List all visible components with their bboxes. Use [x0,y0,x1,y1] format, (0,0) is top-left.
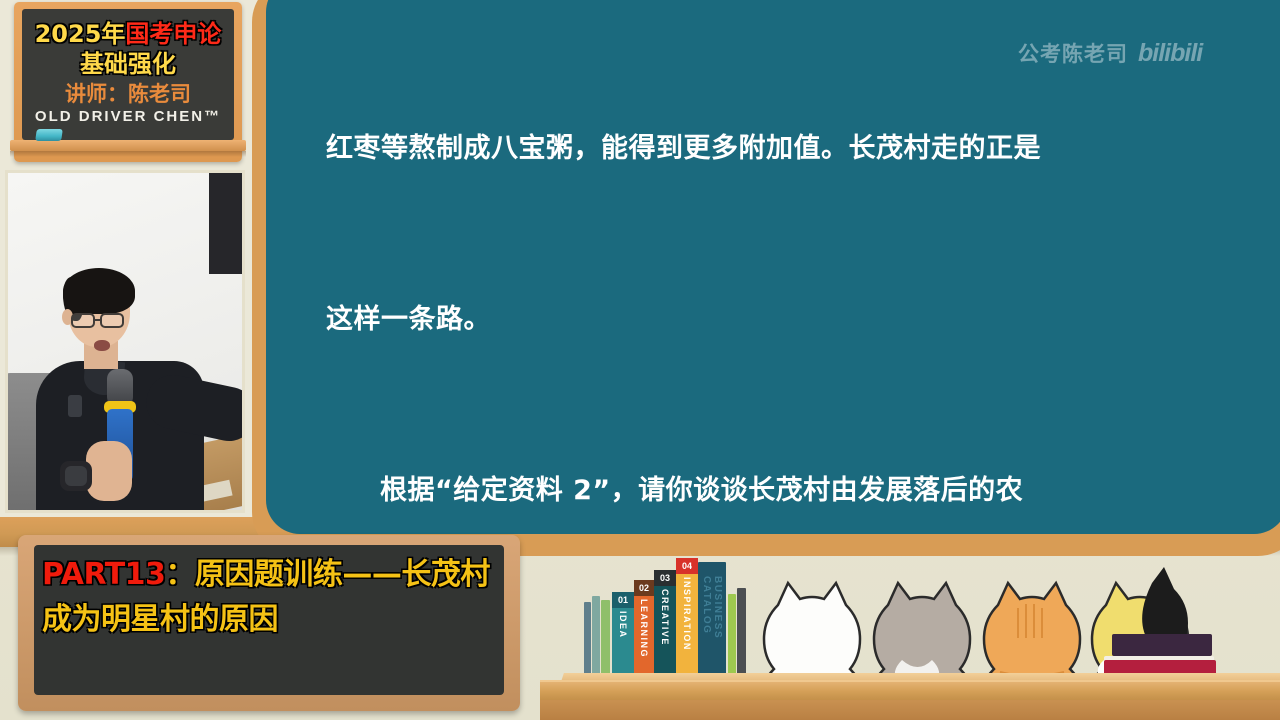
video-player-frame: 红枣等熬制成八宝粥，能得到更多附加值。长茂村走的正是 这样一条路。 根据“给定资… [0,0,1280,720]
thin-book-1 [584,602,591,680]
main-slide-board: 红枣等熬制成八宝粥，能得到更多附加值。长茂村走的正是 这样一条路。 根据“给定资… [266,0,1280,534]
glasses-left-lens-icon [71,313,95,328]
book-04-label: INSPIRATION [682,577,692,651]
wristwatch-face [65,466,87,486]
book-01-label: IDEA [618,611,628,639]
thin-book-3 [601,600,610,680]
background-dark-panel [209,173,242,274]
slide-line-2: 这样一条路。 [326,291,1226,348]
thin-book-5 [737,588,746,680]
instructor-name: 讲师：陈老司 [22,78,234,108]
glasses-right-lens-icon [100,313,124,328]
title-board-ledge-shadow [10,151,246,157]
book-02-label: LEARNING [639,599,649,658]
part-colon: ： [165,557,195,592]
book-03-number: 03 [660,573,670,583]
lower-shelf [540,680,1280,702]
book-spine-04-inspiration: 04 INSPIRATION [676,558,698,680]
bookshelf-books: 01 IDEA 02 LEARNING 03 CREATIVE 04 INSPI… [582,568,782,680]
part-label: PART13 [42,557,165,592]
chalk-eraser-icon [35,129,63,141]
glasses-bridge-icon [95,319,101,321]
book-spine-02-learning: 02 LEARNING [634,580,654,680]
part-topic-line-3: 因 [249,602,279,637]
slide-line-1: 红枣等熬制成八宝粥，能得到更多附加值。长茂村走的正是 [326,120,1226,177]
slide-text-body: 红枣等熬制成八宝粥，能得到更多附加值。长茂村走的正是 这样一条路。 根据“给定资… [326,12,1226,534]
webcam-video-feed [8,173,242,510]
slide-line-3: 根据“给定资料 2”，请你谈谈长茂村由发展落后的农 [326,462,1226,519]
book-01-number: 01 [618,595,628,605]
thin-book-2 [592,596,600,680]
title-board-ledge [10,140,246,151]
lower-shelf-edge [540,700,1280,720]
book-02-number: 02 [639,583,649,593]
instructor-handle: OLD DRIVER CHEN™ [22,108,234,125]
part-topic-line-1: 原因题训练— [195,557,372,592]
thin-book-4 [728,594,736,680]
book-spine-01-idea: 01 IDEA [612,592,634,680]
book-spine-business: BUSINESS CATALOG [698,562,726,680]
book-spine-03-creative: 03 CREATIVE [654,570,676,680]
book-03-label: CREATIVE [660,589,670,646]
presenter-hand [86,441,132,501]
presenter-webcam[interactable] [5,170,245,513]
book-business-label: BUSINESS CATALOG [701,576,723,680]
presenter-mouth [94,340,110,351]
part-topic-text: PART13：原因题训练——长茂村成为明星村的原因 [42,552,500,642]
book-04-number: 04 [682,561,692,571]
stacked-book-top [1112,634,1212,656]
course-subtitle: 基础强化 [22,44,234,79]
lapel-mic-clip [68,395,82,417]
